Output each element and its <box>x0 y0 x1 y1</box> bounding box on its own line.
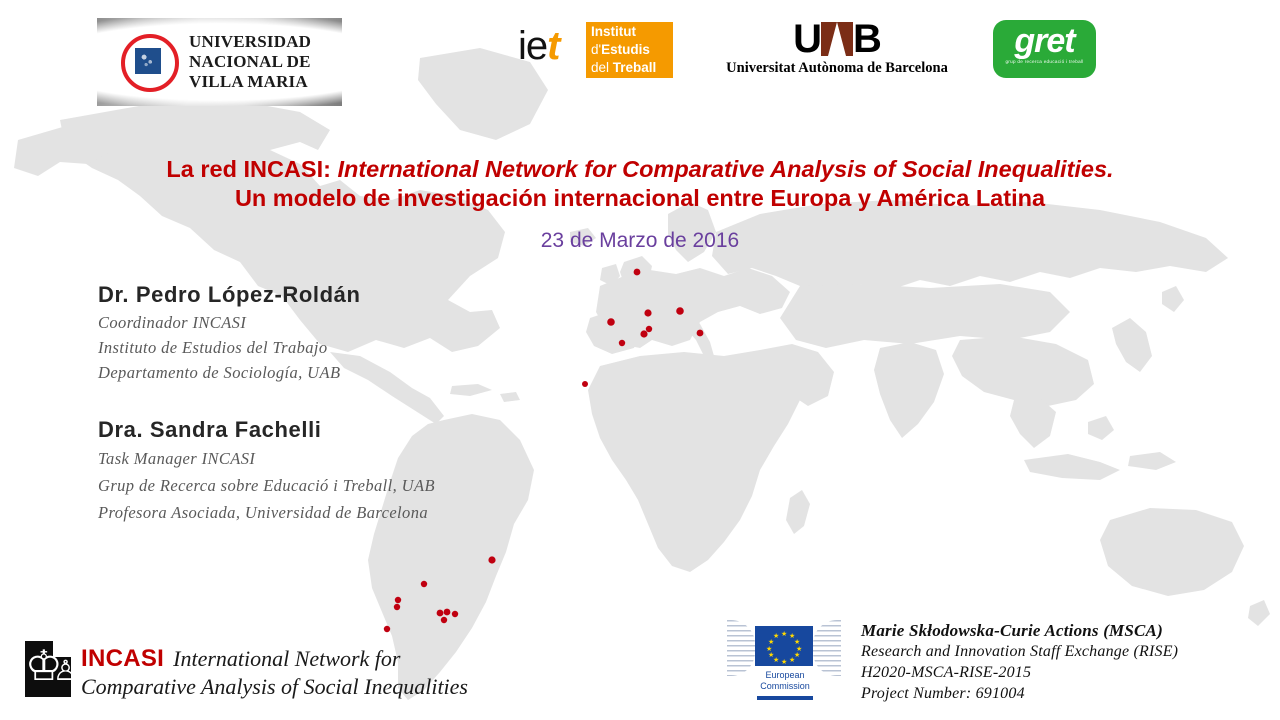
msca-title: Marie Skłodowska-Curie Actions (MSCA) <box>861 620 1178 641</box>
iet-ie: ie <box>518 24 547 68</box>
incasi-acronym: INCASI <box>81 645 164 672</box>
msca-text-block: Marie Skłodowska-Curie Actions (MSCA) Re… <box>861 618 1178 704</box>
unvm-logo-text: UNIVERSIDAD NACIONAL DE VILLA MARIA <box>189 32 311 92</box>
ec-line-2: Commission <box>749 681 821 692</box>
iet-apostrophe-d: d' <box>591 42 601 57</box>
ec-rays-left-icon <box>727 620 755 676</box>
iet-box-line-1: Institut <box>591 23 673 41</box>
ec-line-1: European <box>749 670 821 681</box>
uab-a-triangle-icon <box>821 22 853 56</box>
author-role-3: Departamento de Sociología, UAB <box>98 361 361 384</box>
iet-orange-box: Institut d'Estudis del Treball <box>586 22 673 78</box>
eu-flag-icon: ★ ★ ★ ★ ★ ★ ★ ★ ★ ★ ★ ★ <box>755 626 813 666</box>
uab-subtitle: Universitat Autònoma de Barcelona <box>712 60 962 77</box>
chess-king-icon: ♔ <box>25 645 53 687</box>
eu-star: ★ <box>781 659 787 666</box>
title-line-1: La red INCASI: International Network for… <box>0 155 1280 184</box>
iet-estudis: Estudis <box>601 42 650 57</box>
author-role-1: Task Manager INCASI <box>98 447 435 471</box>
iet-logo: iet Institut d'Estudis del Treball <box>518 22 673 78</box>
msca-line-2: H2020-MSCA-RISE-2015 <box>861 662 1178 683</box>
funding-block: ★ ★ ★ ★ ★ ★ ★ ★ ★ ★ ★ ★ European Commiss… <box>727 618 1178 716</box>
uab-u: U <box>793 17 821 61</box>
chess-pieces-icon: ♔ ♙ <box>25 641 71 697</box>
iet-treball: Treball <box>613 60 657 75</box>
eu-star: ★ <box>768 652 774 659</box>
author-name: Dr. Pedro López-Roldán <box>98 281 361 309</box>
chess-pawn-icon: ♙ <box>53 657 71 685</box>
uab-wordmark-icon: UB <box>712 20 962 58</box>
ec-rays-right-icon <box>813 620 841 676</box>
msca-line-3: Project Number: 691004 <box>861 683 1178 704</box>
author-role-1: Coordinador INCASI <box>98 311 361 334</box>
incasi-logo-text: INCASIInternational Network for Comparat… <box>81 641 468 701</box>
uab-b: B <box>853 17 881 61</box>
author-role-2: Instituto de Estudios del Trabajo <box>98 336 361 359</box>
unvm-logo: UNIVERSIDAD NACIONAL DE VILLA MARIA <box>97 18 342 106</box>
eu-star: ★ <box>789 657 795 664</box>
author-pedro-lopez-roldan: Dr. Pedro López-Roldán Coordinador INCAS… <box>98 281 361 384</box>
iet-t: t <box>547 24 559 68</box>
presentation-date: 23 de Marzo de 2016 <box>0 228 1280 254</box>
blue-square-icon <box>135 48 161 74</box>
incasi-tagline-2: Comparative Analysis of Social Inequalit… <box>81 673 468 701</box>
unvm-emblem-icon <box>119 32 179 92</box>
gret-logo: gret grup de recerca educació i treball <box>993 20 1096 78</box>
unvm-line-3: VILLA MARIA <box>189 72 311 92</box>
msca-line-1: Research and Innovation Staff Exchange (… <box>861 641 1178 662</box>
eu-star: ★ <box>781 631 787 638</box>
eu-star: ★ <box>768 639 774 646</box>
iet-box-line-2: d'Estudis <box>591 41 673 59</box>
incasi-logo: ♔ ♙ INCASIInternational Network for Comp… <box>25 641 468 701</box>
author-role-3: Profesora Asociada, Universidad de Barce… <box>98 501 435 525</box>
eu-star: ★ <box>766 646 772 653</box>
iet-box-line-3: del Treball <box>591 59 673 77</box>
incasi-tagline-1: International Network for <box>173 646 400 671</box>
gret-wordmark: gret <box>993 22 1096 60</box>
title-line-2: Un modelo de investigación internacional… <box>0 184 1280 213</box>
author-name: Dra. Sandra Fachelli <box>98 416 435 444</box>
presentation-slide: UNIVERSIDAD NACIONAL DE VILLA MARIA iet … <box>0 0 1280 720</box>
logo-strip: UNIVERSIDAD NACIONAL DE VILLA MARIA iet … <box>0 0 1280 112</box>
european-commission-logo: ★ ★ ★ ★ ★ ★ ★ ★ ★ ★ ★ ★ European Commiss… <box>727 618 845 716</box>
title-italic-part: International Network for Comparative An… <box>337 156 1113 182</box>
author-sandra-fachelli: Dra. Sandra Fachelli Task Manager INCASI… <box>98 416 435 525</box>
iet-acronym: iet <box>518 26 559 66</box>
ec-label: European Commission <box>749 670 821 692</box>
unvm-line-2: NACIONAL DE <box>189 52 311 72</box>
iet-del: del <box>591 60 613 75</box>
ec-blue-bar <box>757 696 813 700</box>
gret-subtitle: grup de recerca educació i treball <box>993 59 1096 65</box>
incasi-row-1: INCASIInternational Network for <box>81 645 468 673</box>
uab-logo: UB Universitat Autònoma de Barcelona <box>712 20 962 80</box>
title-block: La red INCASI: International Network for… <box>0 155 1280 213</box>
unvm-line-1: UNIVERSIDAD <box>189 32 311 52</box>
author-role-2: Grup de Recerca sobre Educació i Treball… <box>98 474 435 498</box>
title-prefix: La red INCASI: <box>166 156 337 182</box>
eu-star: ★ <box>773 633 779 640</box>
